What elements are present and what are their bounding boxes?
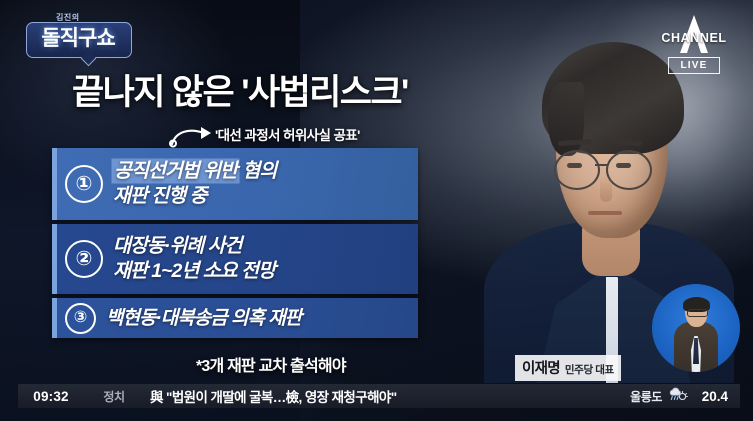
page-title: 끝나지 않은 '사법리스크'	[72, 64, 408, 115]
line-rest: 혐의	[238, 160, 276, 182]
person-name: 이재명	[522, 357, 560, 378]
ticker-category: 정치	[84, 388, 144, 405]
list-item-text: 공직선거법 위반 혐의 재판 진행 중	[113, 159, 276, 209]
list-item-line: 재판 1~2년 소요 전망	[113, 259, 275, 284]
show-logo: 김진의 돌직구쇼	[26, 13, 130, 61]
subject-nose	[600, 176, 612, 202]
subject-glasses-right-lens	[606, 150, 652, 190]
show-logo-subtitle: 김진의	[56, 12, 80, 23]
live-badge: LIVE	[668, 57, 720, 74]
anchor-glasses-icon	[687, 309, 708, 317]
list-item: ② 대장동·위례 사건 재판 1~2년 소요 전망	[52, 224, 418, 294]
list-item-number: ②	[65, 240, 103, 278]
anchor-pip	[652, 284, 740, 372]
sun-behind-rain-cloud-icon	[668, 386, 688, 407]
channel-a-mark-icon: CHANNEL	[651, 12, 737, 56]
list-item-line: 백현동·대북송금 의혹 재판	[106, 306, 301, 331]
subject-mouth	[588, 211, 622, 215]
subject-glasses-left-lens	[554, 150, 600, 190]
curved-arrow-icon	[168, 126, 218, 153]
list-item-number: ③	[65, 303, 96, 334]
list-item: ③ 백현동·대북송금 의혹 재판	[52, 298, 418, 338]
callout-annotation: '대선 과정서 허위사실 공표'	[215, 124, 360, 144]
subject-glasses-bridge	[595, 164, 608, 166]
channel-logo: CHANNEL LIVE	[651, 12, 737, 74]
highlighted-phrase: 공직선거법 위반	[113, 160, 238, 182]
weather-temperature: 20.4	[694, 389, 728, 404]
news-ticker: 09:32 정치 與 "법원이 개딸에 굴복…檢, 영장 재청구해야" 울릉도	[18, 384, 740, 408]
show-logo-title: 돌직구쇼	[26, 23, 130, 55]
list-item-line: 재판 진행 중	[113, 184, 276, 209]
risk-list: ① 공직선거법 위반 혐의 재판 진행 중 ② 대장동·위례 사건 재판 1~2…	[52, 148, 418, 342]
ticker-headline: 與 "법원이 개딸에 굴복…檢, 영장 재청구해야"	[144, 386, 630, 406]
list-item-line: 대장동·위례 사건	[113, 234, 275, 259]
broadcast-screen: 김진의 돌직구쇼 CHANNEL LIVE 끝나지 않은 '사법리스크' '대선…	[0, 0, 753, 421]
weather-region: 울릉도	[630, 388, 662, 405]
person-title: 민주당 대표	[565, 362, 614, 377]
list-item-text: 백현동·대북송금 의혹 재판	[106, 306, 301, 331]
footnote-text: *3개 재판 교차 출석해야	[196, 352, 346, 376]
ticker-weather: 울릉도 2	[630, 386, 740, 407]
list-item: ① 공직선거법 위반 혐의 재판 진행 중	[52, 148, 418, 220]
channel-wordmark: CHANNEL	[651, 31, 737, 45]
name-caption: 이재명 민주당 대표	[515, 355, 621, 381]
ticker-time: 09:32	[18, 389, 84, 404]
list-item-number: ①	[65, 165, 103, 203]
list-item-line: 공직선거법 위반 혐의	[113, 159, 276, 184]
list-item-text: 대장동·위례 사건 재판 1~2년 소요 전망	[113, 234, 275, 284]
